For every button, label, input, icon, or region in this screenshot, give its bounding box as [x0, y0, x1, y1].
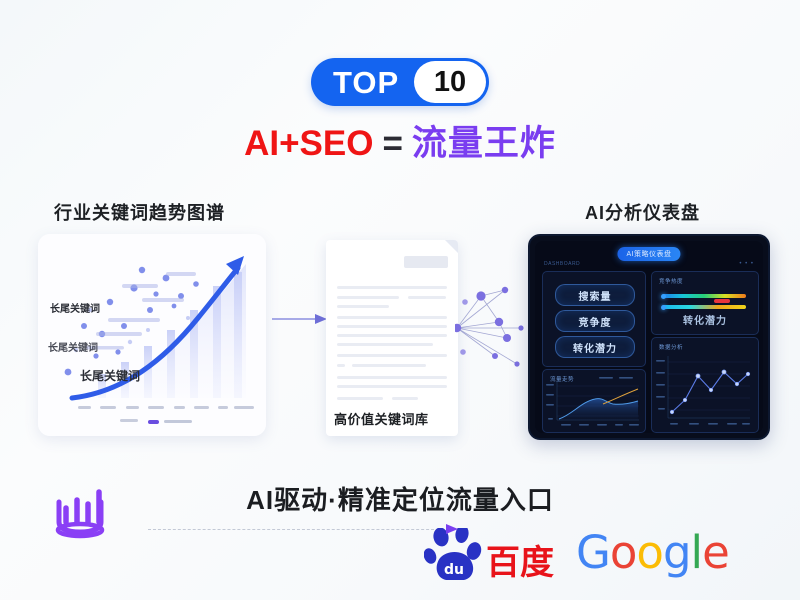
baidu-paw-icon: du — [424, 528, 494, 584]
headline-purple-text: 流量王炸 — [412, 124, 556, 163]
heat-gradient-bar-1 — [662, 294, 746, 298]
node-network-graphic — [455, 276, 533, 372]
document-header-block — [404, 256, 448, 268]
top-badge-circle: 10 — [414, 61, 486, 103]
line-chart-svg — [652, 338, 758, 432]
baidu-wordmark: 百度 — [486, 535, 554, 584]
document-folded-corner-icon — [445, 240, 458, 253]
flow-arrow-icon — [272, 312, 328, 326]
left-section-caption: 行业关键词趋势图谱 — [54, 199, 225, 225]
analytics-bars-icon — [46, 478, 114, 540]
page-title: AI+SEO=流量王炸 — [0, 126, 800, 161]
metric-pill-competition[interactable]: 竞争度 — [555, 310, 635, 332]
baidu-du-mark: du — [444, 562, 464, 578]
trend-chart-graphic: 长尾关键词 长尾关键词 长尾关键词 — [38, 234, 266, 436]
keyword-annotation-1: 长尾关键词 — [50, 300, 100, 315]
competition-panel-title: 竞争热度 — [659, 277, 683, 285]
keyword-annotation-2: 长尾关键词 — [48, 339, 98, 354]
conversion-potential-overlay: 转化潜力 — [652, 312, 758, 327]
competition-heat-panel: 竞争热度 转化潜力 — [651, 271, 759, 335]
top-badge-number: 10 — [434, 68, 466, 97]
traffic-area-chart-panel: 流量走势 — [542, 369, 646, 433]
heat-gradient-bar-2 — [662, 305, 746, 309]
headline-red-text: AI+SEO — [244, 124, 373, 163]
dashboard-brand-label: DASHBOARD — [544, 261, 580, 267]
metric-pill-search-volume[interactable]: 搜索量 — [555, 284, 635, 306]
right-section-caption: AI分析仪表盘 — [585, 199, 700, 225]
top-badge-label: TOP — [333, 67, 399, 98]
document-caption: 高价值关键词库 — [334, 409, 429, 428]
dashboard-screen: AI策略仪表盘 DASHBOARD • • • 搜索量 竞争度 转化潜力 竞争热… — [535, 241, 763, 433]
trend-chart-svg — [38, 234, 266, 436]
keyword-annotation-3: 长尾关键词 — [80, 367, 140, 384]
search-engine-logos: du 百度 Google — [424, 522, 754, 582]
keyword-trend-chart-card: 长尾关键词 长尾关键词 长尾关键词 — [38, 234, 266, 436]
dashboard-title-badge: AI策略仪表盘 — [617, 247, 680, 261]
area-chart-svg — [543, 370, 645, 432]
metric-pills-panel: 搜索量 竞争度 转化潜力 — [542, 271, 646, 367]
heat-alert-chip — [714, 299, 730, 303]
heat-bar-marker-2 — [661, 305, 666, 310]
keyword-library-document: 高价值关键词库 — [326, 240, 458, 436]
footer-tagline: AI驱动·精准定位流量入口 — [0, 480, 800, 517]
top-rank-badge: TOP 10 — [311, 58, 489, 106]
ai-dashboard-panel: AI策略仪表盘 DASHBOARD • • • 搜索量 竞争度 转化潜力 竞争热… — [528, 234, 770, 440]
data-analysis-line-panel: 数据分析 — [651, 337, 759, 433]
headline-equals-sign: = — [382, 124, 402, 163]
metric-pill-conversion[interactable]: 转化潜力 — [555, 336, 635, 358]
heat-bar-marker-1 — [661, 294, 666, 299]
infographic-canvas: TOP 10 AI+SEO=流量王炸 行业关键词趋势图谱 AI分析仪表盘 — [0, 0, 800, 600]
dashboard-menu-icon[interactable]: • • • — [739, 261, 754, 267]
google-wordmark: Google — [576, 526, 729, 579]
arrow-marker-icon — [444, 522, 460, 536]
footer-dashed-connector — [148, 529, 444, 531]
